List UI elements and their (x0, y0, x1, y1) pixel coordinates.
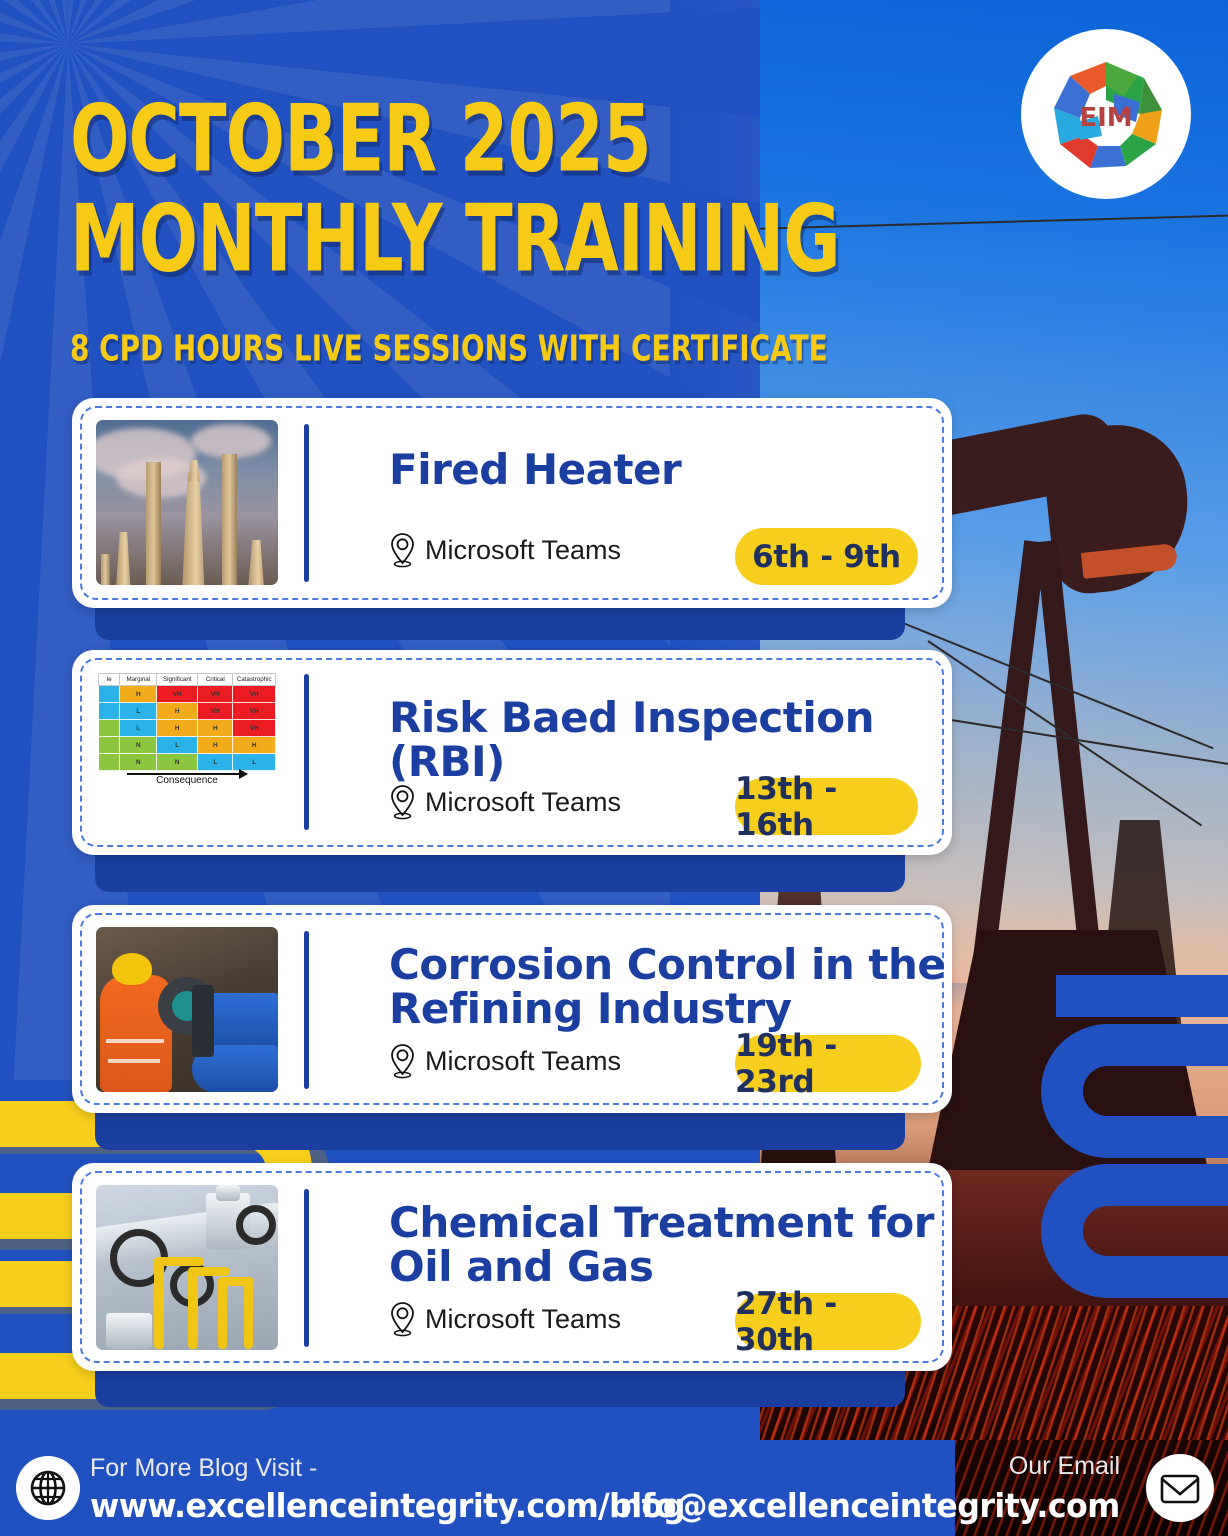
globe-icon (28, 1468, 68, 1508)
risk-matrix-cell: VH (233, 703, 276, 720)
course-thumbnail-gas-plant (96, 1185, 278, 1350)
risk-matrix-table: le Marginal Significant Critical Catastr… (98, 673, 276, 771)
card-divider (304, 1189, 309, 1347)
risk-matrix-row: NNLL (99, 754, 276, 771)
risk-matrix-cell: VH (157, 686, 198, 703)
course-date-badge[interactable]: 19th - 23rd (735, 1035, 921, 1092)
course-venue: Microsoft Teams (389, 532, 621, 568)
risk-matrix-axis-label: Consequence (98, 775, 276, 786)
logo-text: EIM (1079, 103, 1132, 133)
risk-matrix-header-row: le Marginal Significant Critical Catastr… (99, 674, 276, 686)
risk-matrix-body: HVHVHVHLHVHVHLHHVHNLHHNNLL (99, 686, 276, 771)
envelope-icon-circle (1146, 1454, 1214, 1522)
risk-matrix-cell (99, 754, 120, 771)
rm-col-0: le (99, 674, 120, 686)
risk-matrix-cell (99, 737, 120, 754)
risk-matrix-cell: VH (233, 686, 276, 703)
risk-matrix-cell: L (198, 754, 233, 771)
footer-blog-label: For More Blog Visit - (90, 1454, 317, 1483)
globe-icon-circle (16, 1456, 80, 1520)
risk-matrix-row: LHHVH (99, 720, 276, 737)
risk-matrix-row: NLHH (99, 737, 276, 754)
course-card-fired-heater[interactable]: Fired Heater Microsoft Teams 6th - 9th (72, 398, 952, 608)
risk-matrix-cell: H (198, 720, 233, 737)
rm-col-2: Significant (157, 674, 198, 686)
course-date-badge[interactable]: 6th - 9th (735, 528, 918, 585)
card-divider (304, 674, 309, 830)
course-thumbnail-refinery (96, 420, 278, 585)
risk-matrix-cell: H (157, 720, 198, 737)
risk-matrix-cell: L (233, 754, 276, 771)
risk-matrix-cell: N (157, 754, 198, 771)
risk-matrix-cell: VH (198, 686, 233, 703)
risk-matrix-cell: H (198, 737, 233, 754)
risk-matrix-cell: L (157, 737, 198, 754)
course-venue: Microsoft Teams (389, 1043, 621, 1079)
location-pin-icon (389, 532, 416, 568)
page-subtitle: 8 CPD HOURS LIVE SESSIONS WITH CERTIFICA… (70, 328, 828, 370)
rm-col-1: Marginal (120, 674, 157, 686)
risk-matrix-cell: VH (198, 703, 233, 720)
risk-matrix-chart: le Marginal Significant Critical Catastr… (96, 670, 278, 833)
risk-matrix-cell (99, 720, 120, 737)
course-date-badge[interactable]: 27th - 30th (735, 1293, 921, 1350)
card-divider (304, 424, 309, 582)
risk-matrix-cell: H (120, 686, 157, 703)
rm-col-3: Critical (198, 674, 233, 686)
page-title-line-2: MONTHLY TRAINING (70, 195, 840, 283)
course-venue: Microsoft Teams (389, 1301, 621, 1337)
risk-matrix-cell: L (120, 703, 157, 720)
course-title: Chemical Treatment for Oil and Gas (389, 1201, 949, 1288)
course-title: Fired Heater (389, 448, 681, 492)
envelope-icon (1159, 1470, 1201, 1506)
risk-matrix-cell: VH (233, 720, 276, 737)
risk-matrix-cell: H (233, 737, 276, 754)
course-venue-label: Microsoft Teams (425, 787, 621, 818)
footer: For More Blog Visit - www.excellenceinte… (0, 1440, 1228, 1536)
course-venue-label: Microsoft Teams (425, 1304, 621, 1335)
course-card-corrosion-control[interactable]: Corrosion Control in the Refining Indust… (72, 905, 952, 1113)
course-card-chemical-treatment[interactable]: Chemical Treatment for Oil and Gas Micro… (72, 1163, 952, 1371)
risk-matrix-cell (99, 686, 120, 703)
risk-matrix-row: HVHVHVH (99, 686, 276, 703)
risk-matrix-row: LHVHVH (99, 703, 276, 720)
location-pin-icon (389, 1043, 416, 1079)
risk-matrix-cell: N (120, 737, 157, 754)
card-divider (304, 931, 309, 1089)
location-pin-icon (389, 784, 416, 820)
rm-col-4: Catastrophic (233, 674, 276, 686)
page-title: OCTOBER 2025 MONTHLY TRAINING (70, 95, 840, 283)
location-pin-icon (389, 1301, 416, 1337)
course-venue: Microsoft Teams (389, 784, 621, 820)
course-card-rbi[interactable]: le Marginal Significant Critical Catastr… (72, 650, 952, 855)
brand-logo: EIM (1021, 29, 1191, 199)
course-venue-label: Microsoft Teams (425, 1046, 621, 1077)
course-thumbnail-pipeline-worker (96, 927, 278, 1092)
course-venue-label: Microsoft Teams (425, 535, 621, 566)
course-date-badge[interactable]: 13th - 16th (735, 778, 918, 835)
page-title-line-1: OCTOBER 2025 (70, 84, 651, 193)
risk-matrix-cell (99, 703, 120, 720)
serpentine-shape-blue (1008, 975, 1228, 1305)
eim-hexagon-logo-icon: EIM (1040, 48, 1172, 180)
footer-email-address[interactable]: info@excellenceintegrity.com (610, 1486, 1120, 1525)
risk-matrix-cell: N (120, 754, 157, 771)
footer-email-label: Our Email (1009, 1452, 1120, 1481)
footer-blog-url[interactable]: www.excellenceintegrity.com/blog (90, 1486, 685, 1525)
course-title: Corrosion Control in the Refining Indust… (389, 943, 952, 1030)
risk-matrix-cell: L (120, 720, 157, 737)
poster-root: OCTOBER 2025 MONTHLY TRAINING 8 CPD HOUR… (0, 0, 1228, 1536)
course-thumbnail-risk-matrix: le Marginal Significant Critical Catastr… (96, 670, 278, 833)
risk-matrix-cell: H (157, 703, 198, 720)
